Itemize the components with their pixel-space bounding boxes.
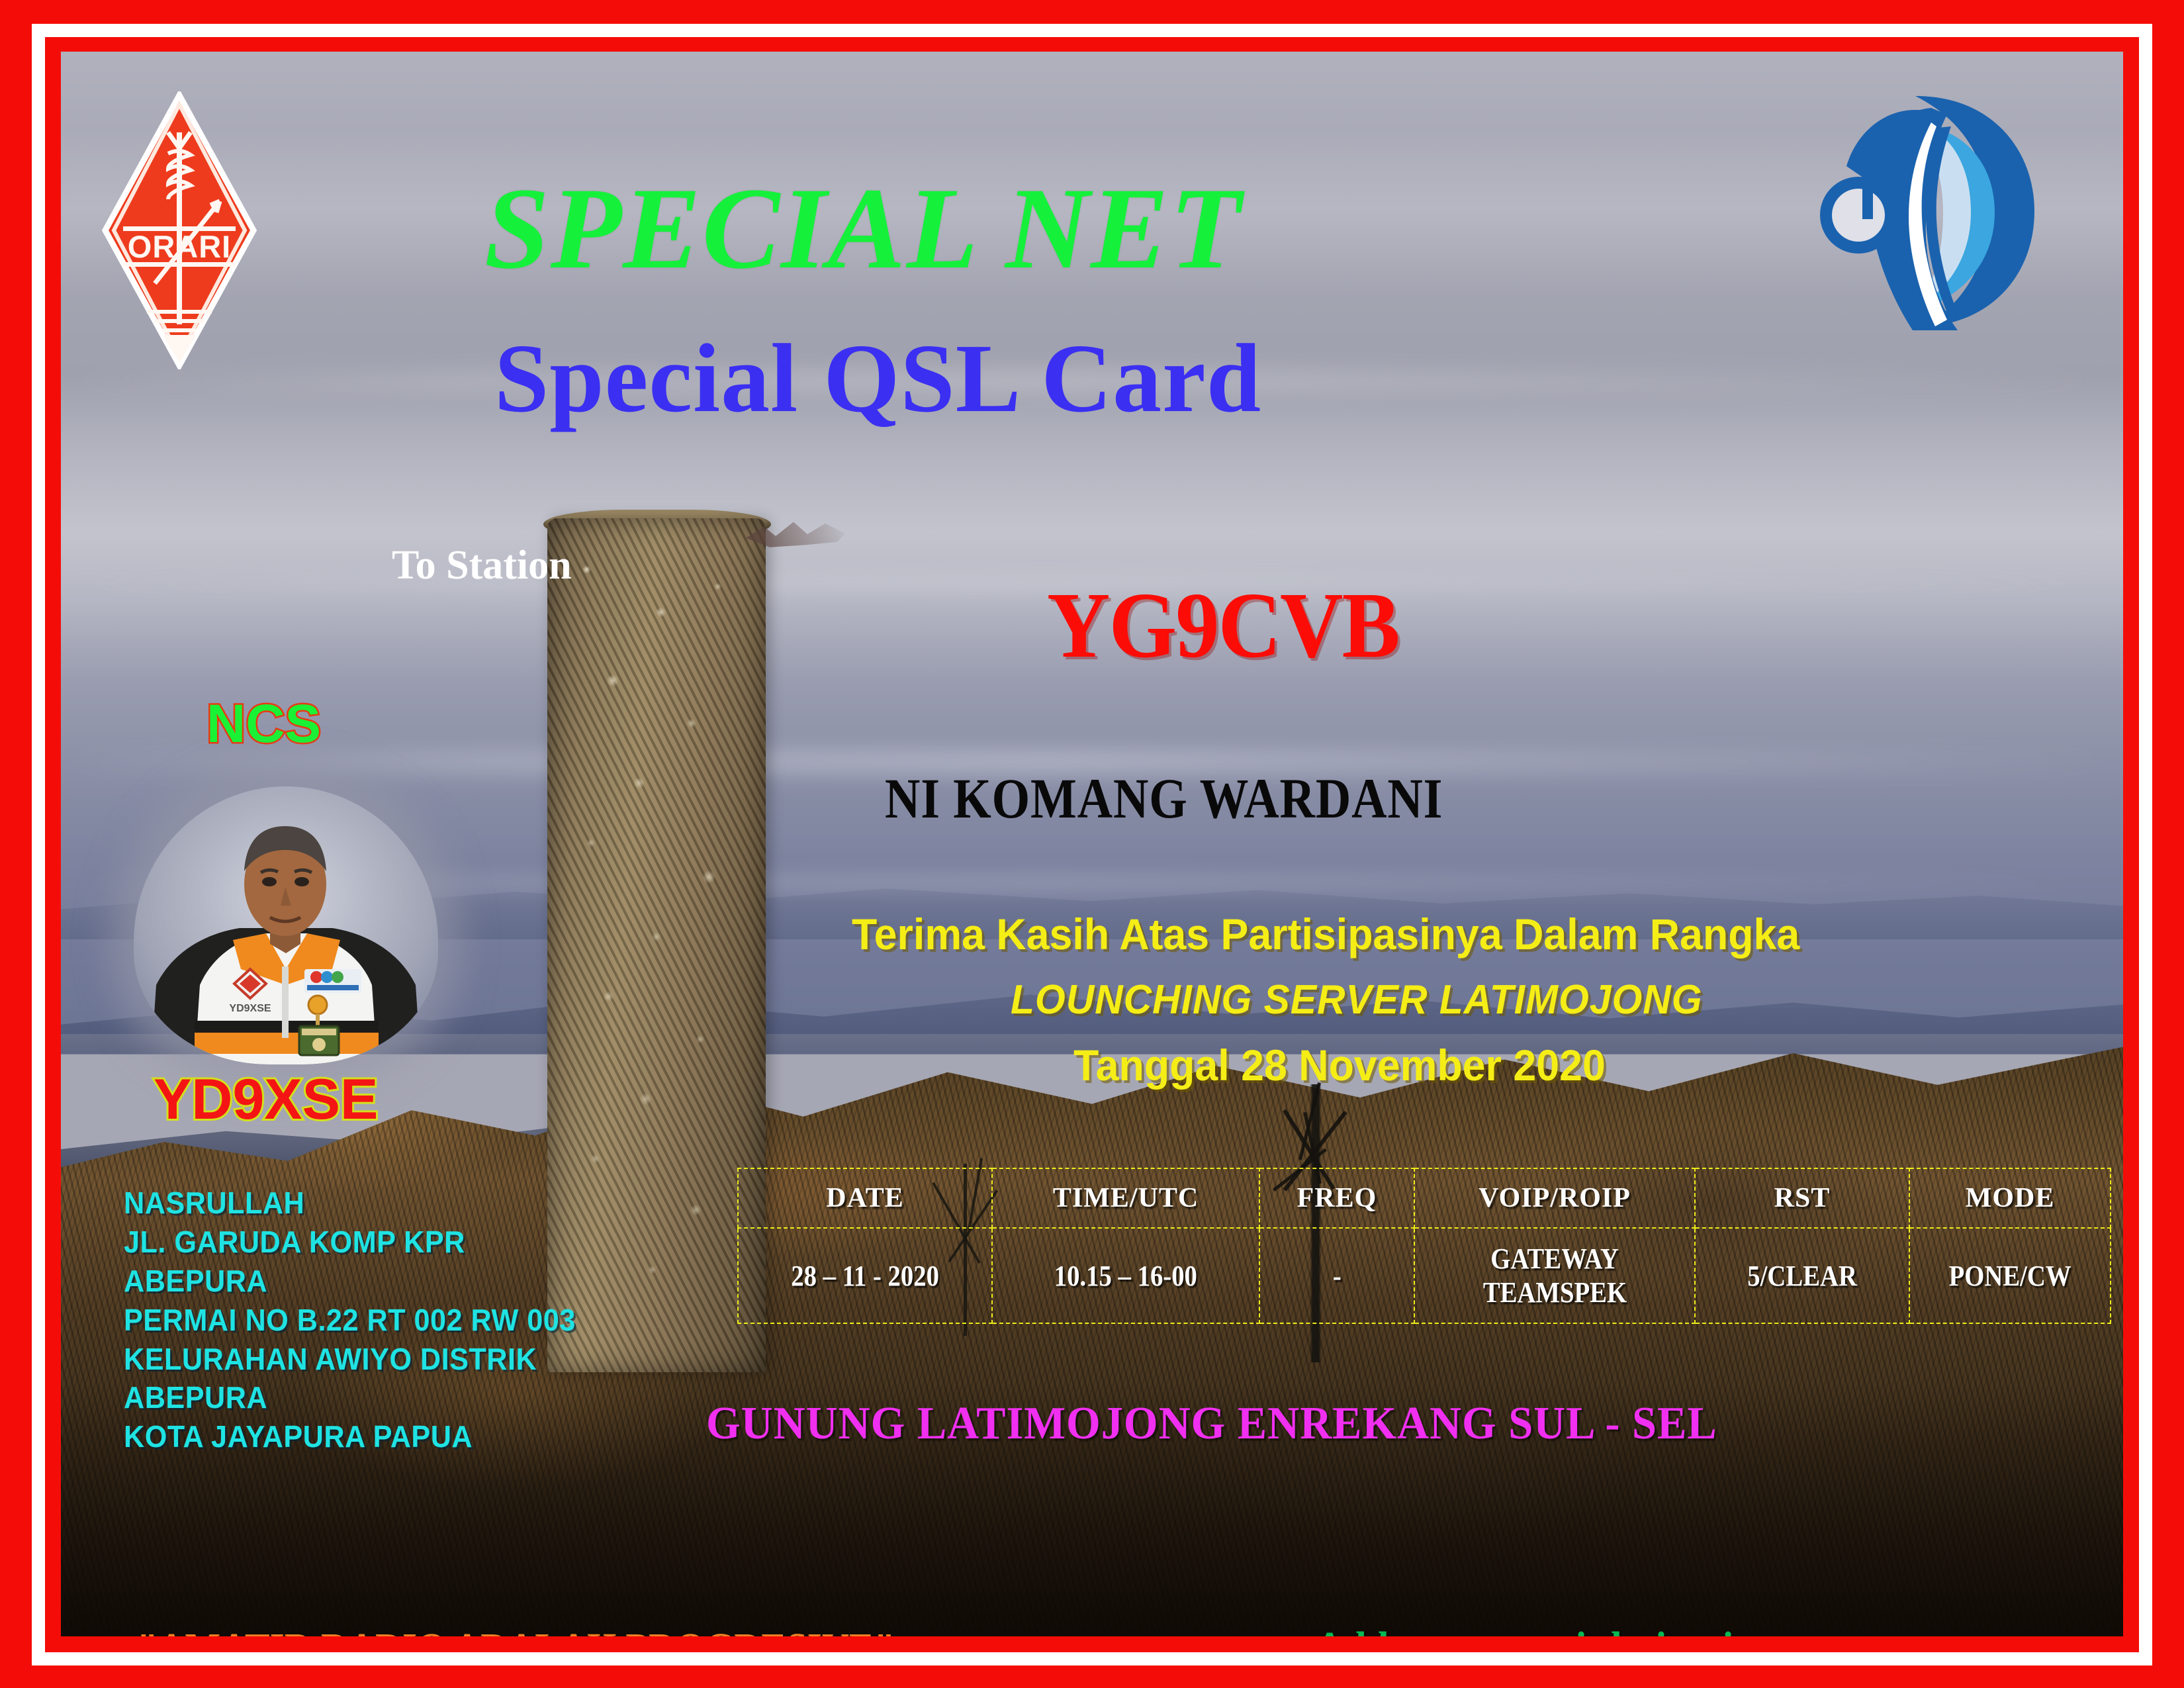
- ncs-role-label: NCS: [206, 697, 321, 751]
- cell-voip-line2: TEAMSPEK: [1482, 1276, 1626, 1309]
- col-mode: MODE: [1909, 1168, 2111, 1228]
- page-subtitle: Special QSL Card: [494, 330, 1261, 428]
- table-row: 28 – 11 - 2020 10.15 – 16-00 - GATEWAY T…: [738, 1228, 2111, 1323]
- address-line: KOTA JAYAPURA PAPUA: [124, 1417, 576, 1456]
- cell-mode-text: PONE/CW: [1948, 1259, 2071, 1293]
- address-line: JL. GARUDA KOMP KPR: [124, 1223, 576, 1262]
- qsl-card: ORARI: [0, 0, 2184, 1688]
- launch-line: LOUNCHING SERVER LATIMOJONG: [1011, 980, 1703, 1021]
- svg-text:YD9XSE: YD9XSE: [229, 1003, 271, 1014]
- location-line: GUNUNG LATIMOJONG ENREKANG SUL - SEL: [706, 1401, 1717, 1447]
- table-header-row: DATE TIME/UTC FREQ VOIP/ROIP RST MODE: [738, 1168, 2111, 1228]
- ncs-callsign: YD9XSE: [154, 1071, 378, 1128]
- thanks-line: Terima Kasih Atas Partisipasinya Dalam R…: [852, 912, 1799, 956]
- col-freq: FREQ: [1259, 1168, 1414, 1228]
- cell-voip-line1: GATEWAY: [1490, 1242, 1619, 1276]
- orari-logo: ORARI: [102, 91, 257, 369]
- cell-date: 28 – 11 - 2020: [738, 1228, 992, 1323]
- to-station-label: To Station: [392, 545, 572, 586]
- headset-profile-logo: [1795, 88, 2043, 333]
- cell-voip-roip: GATEWAY TEAMSPEK: [1414, 1228, 1695, 1323]
- footer-slogan: "AMATIR RADIO ADALAH PROGRESIVE": [137, 1627, 895, 1636]
- card-photo-background: ORARI: [61, 52, 2123, 1636]
- cell-mode: PONE/CW: [1909, 1228, 2111, 1323]
- qso-log-table: DATE TIME/UTC FREQ VOIP/ROIP RST MODE 28…: [737, 1168, 2111, 1324]
- page-title: SPECIAL NET: [484, 171, 1242, 287]
- footer-web-address: Address : amatir.latimojong.com: [1315, 1626, 1878, 1636]
- cell-date-text: 28 – 11 - 2020: [791, 1259, 939, 1293]
- address-line: PERMAI NO B.22 RT 002 RW 003: [124, 1301, 576, 1340]
- cell-time-text: 10.15 – 16-00: [1054, 1259, 1197, 1293]
- svg-text:ORARI: ORARI: [128, 229, 231, 264]
- col-time-utc: TIME/UTC: [992, 1168, 1259, 1228]
- col-voip-roip: VOIP/ROIP: [1414, 1168, 1695, 1228]
- station-callsign: YG9CVB: [1047, 578, 1399, 672]
- cell-rst: 5/CLEAR: [1695, 1228, 1909, 1323]
- address-line: KELURAHAN AWIYO DISTRIK: [124, 1340, 576, 1379]
- address-line: NASRULLAH: [124, 1184, 576, 1223]
- return-address-block: NASRULLAH JL. GARUDA KOMP KPR ABEPURA PE…: [124, 1184, 604, 1456]
- event-date-line: Tanggal 28 November 2020: [1073, 1043, 1606, 1087]
- col-date: DATE: [738, 1168, 992, 1228]
- cell-rst-text: 5/CLEAR: [1747, 1259, 1857, 1293]
- col-rst: RST: [1695, 1168, 1909, 1228]
- cell-freq: -: [1259, 1228, 1414, 1323]
- operator-name: NI KOMANG WARDANI: [885, 770, 1443, 827]
- address-line: ABEPURA: [124, 1378, 576, 1417]
- cell-freq-text: -: [1333, 1259, 1342, 1293]
- address-line: ABEPURA: [124, 1262, 576, 1301]
- cell-time-utc: 10.15 – 16-00: [992, 1228, 1259, 1323]
